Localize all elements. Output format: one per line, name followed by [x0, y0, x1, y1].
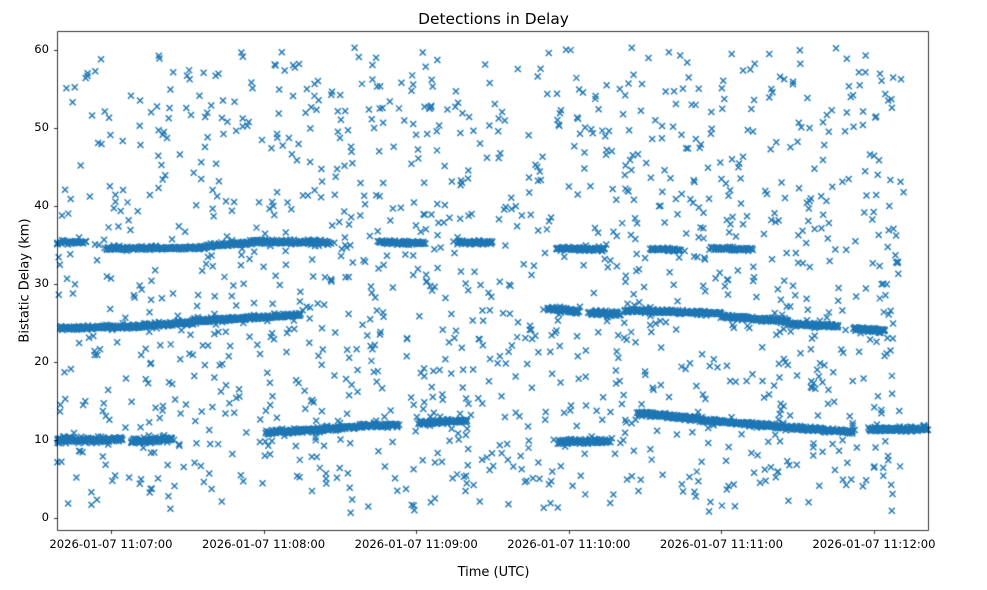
scatter-plot-canvas [0, 0, 987, 590]
x-tick-label: 2026-01-07 11:12:00 [774, 537, 974, 551]
y-tick-label: 10 [9, 432, 49, 446]
y-tick-label: 50 [9, 120, 49, 134]
y-tick-label: 60 [9, 42, 49, 56]
y-tick-label: 40 [9, 198, 49, 212]
y-tick-label: 0 [9, 510, 49, 524]
y-tick-label: 30 [9, 276, 49, 290]
y-tick-label: 20 [9, 354, 49, 368]
matplotlib-figure: Detections in Delay Time (UTC) Bistatic … [0, 0, 987, 590]
